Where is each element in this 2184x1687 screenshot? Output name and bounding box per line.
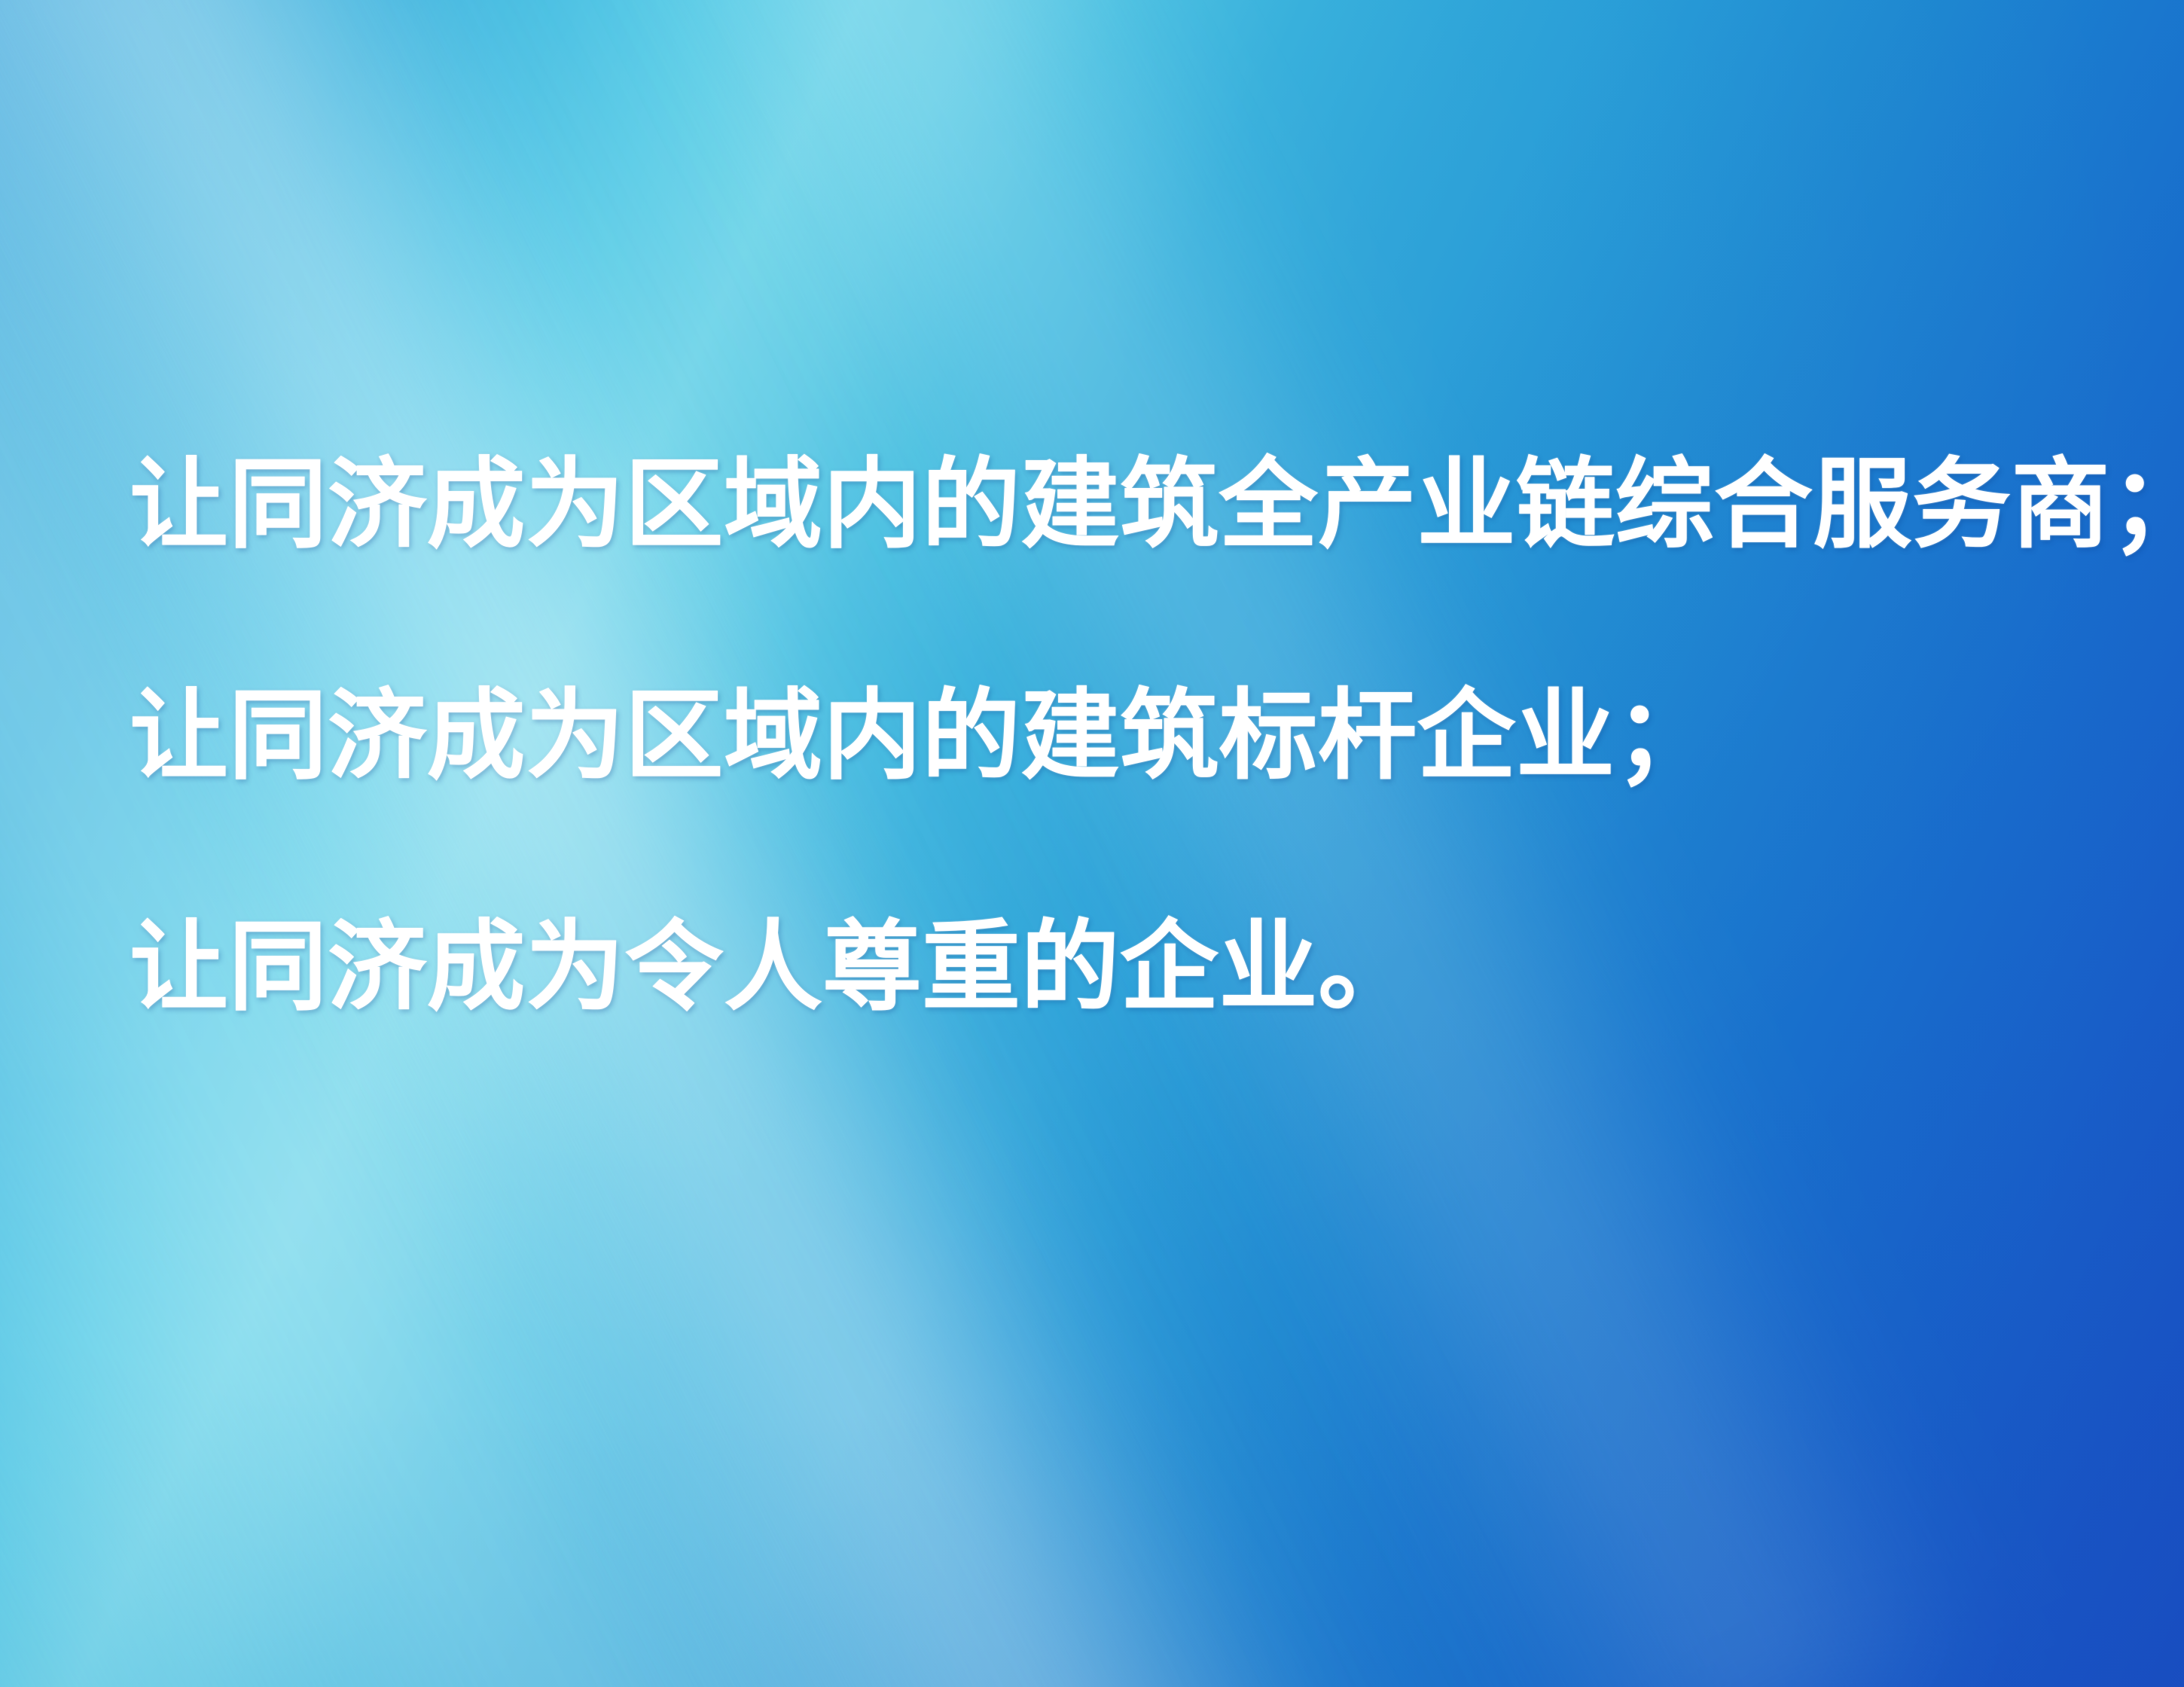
presentation-slide: 让同济成为区域内的建筑全产业链综合服务商； 让同济成为区域内的建筑标杆企业； 让…	[0, 0, 2184, 1687]
slide-line-1: 让同济成为区域内的建筑全产业链综合服务商；	[130, 455, 2103, 554]
slide-line-3: 让同济成为令人尊重的企业。	[130, 917, 2103, 1016]
slide-line-2: 让同济成为区域内的建筑标杆企业；	[130, 686, 2103, 785]
slide-text-block: 让同济成为区域内的建筑全产业链综合服务商； 让同济成为区域内的建筑标杆企业； 让…	[130, 455, 2103, 1016]
